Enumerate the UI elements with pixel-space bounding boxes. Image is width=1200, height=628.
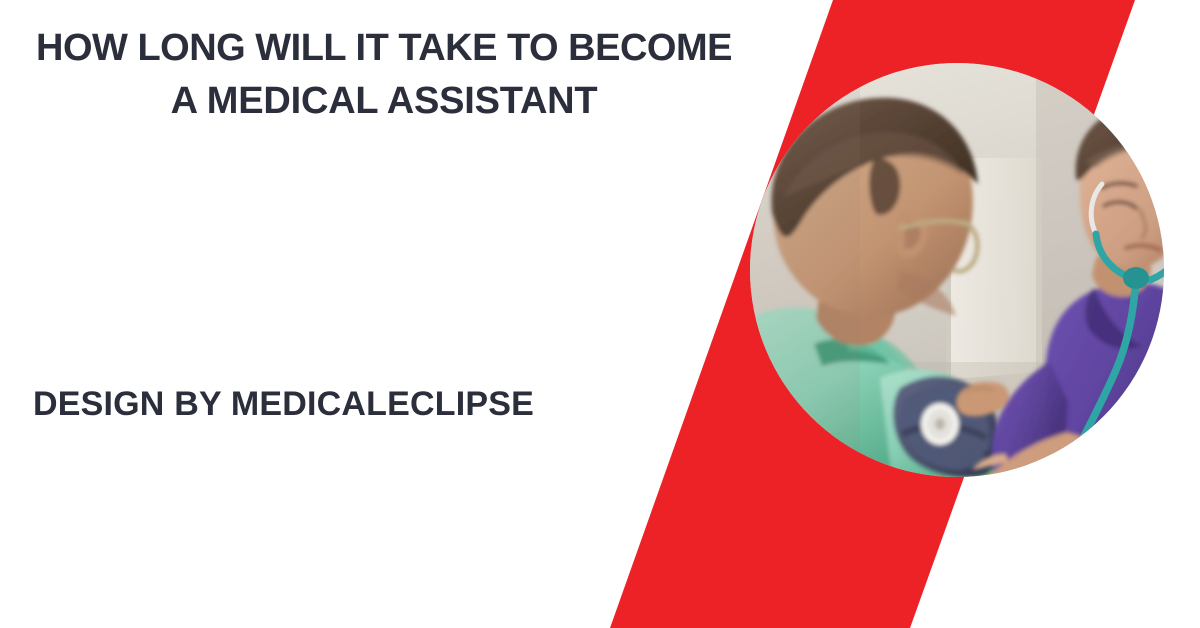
byline: DESIGN BY MEDICALECLIPSE bbox=[33, 383, 534, 425]
promo-banner: HOW LONG WILL IT TAKE TO BECOME A MEDICA… bbox=[0, 0, 1200, 628]
headline-line-2: A MEDICAL ASSISTANT bbox=[0, 75, 768, 128]
headline-line-1: HOW LONG WILL IT TAKE TO BECOME bbox=[0, 22, 768, 75]
page-title: HOW LONG WILL IT TAKE TO BECOME A MEDICA… bbox=[0, 22, 768, 128]
medical-assistant-photo bbox=[750, 63, 1164, 477]
